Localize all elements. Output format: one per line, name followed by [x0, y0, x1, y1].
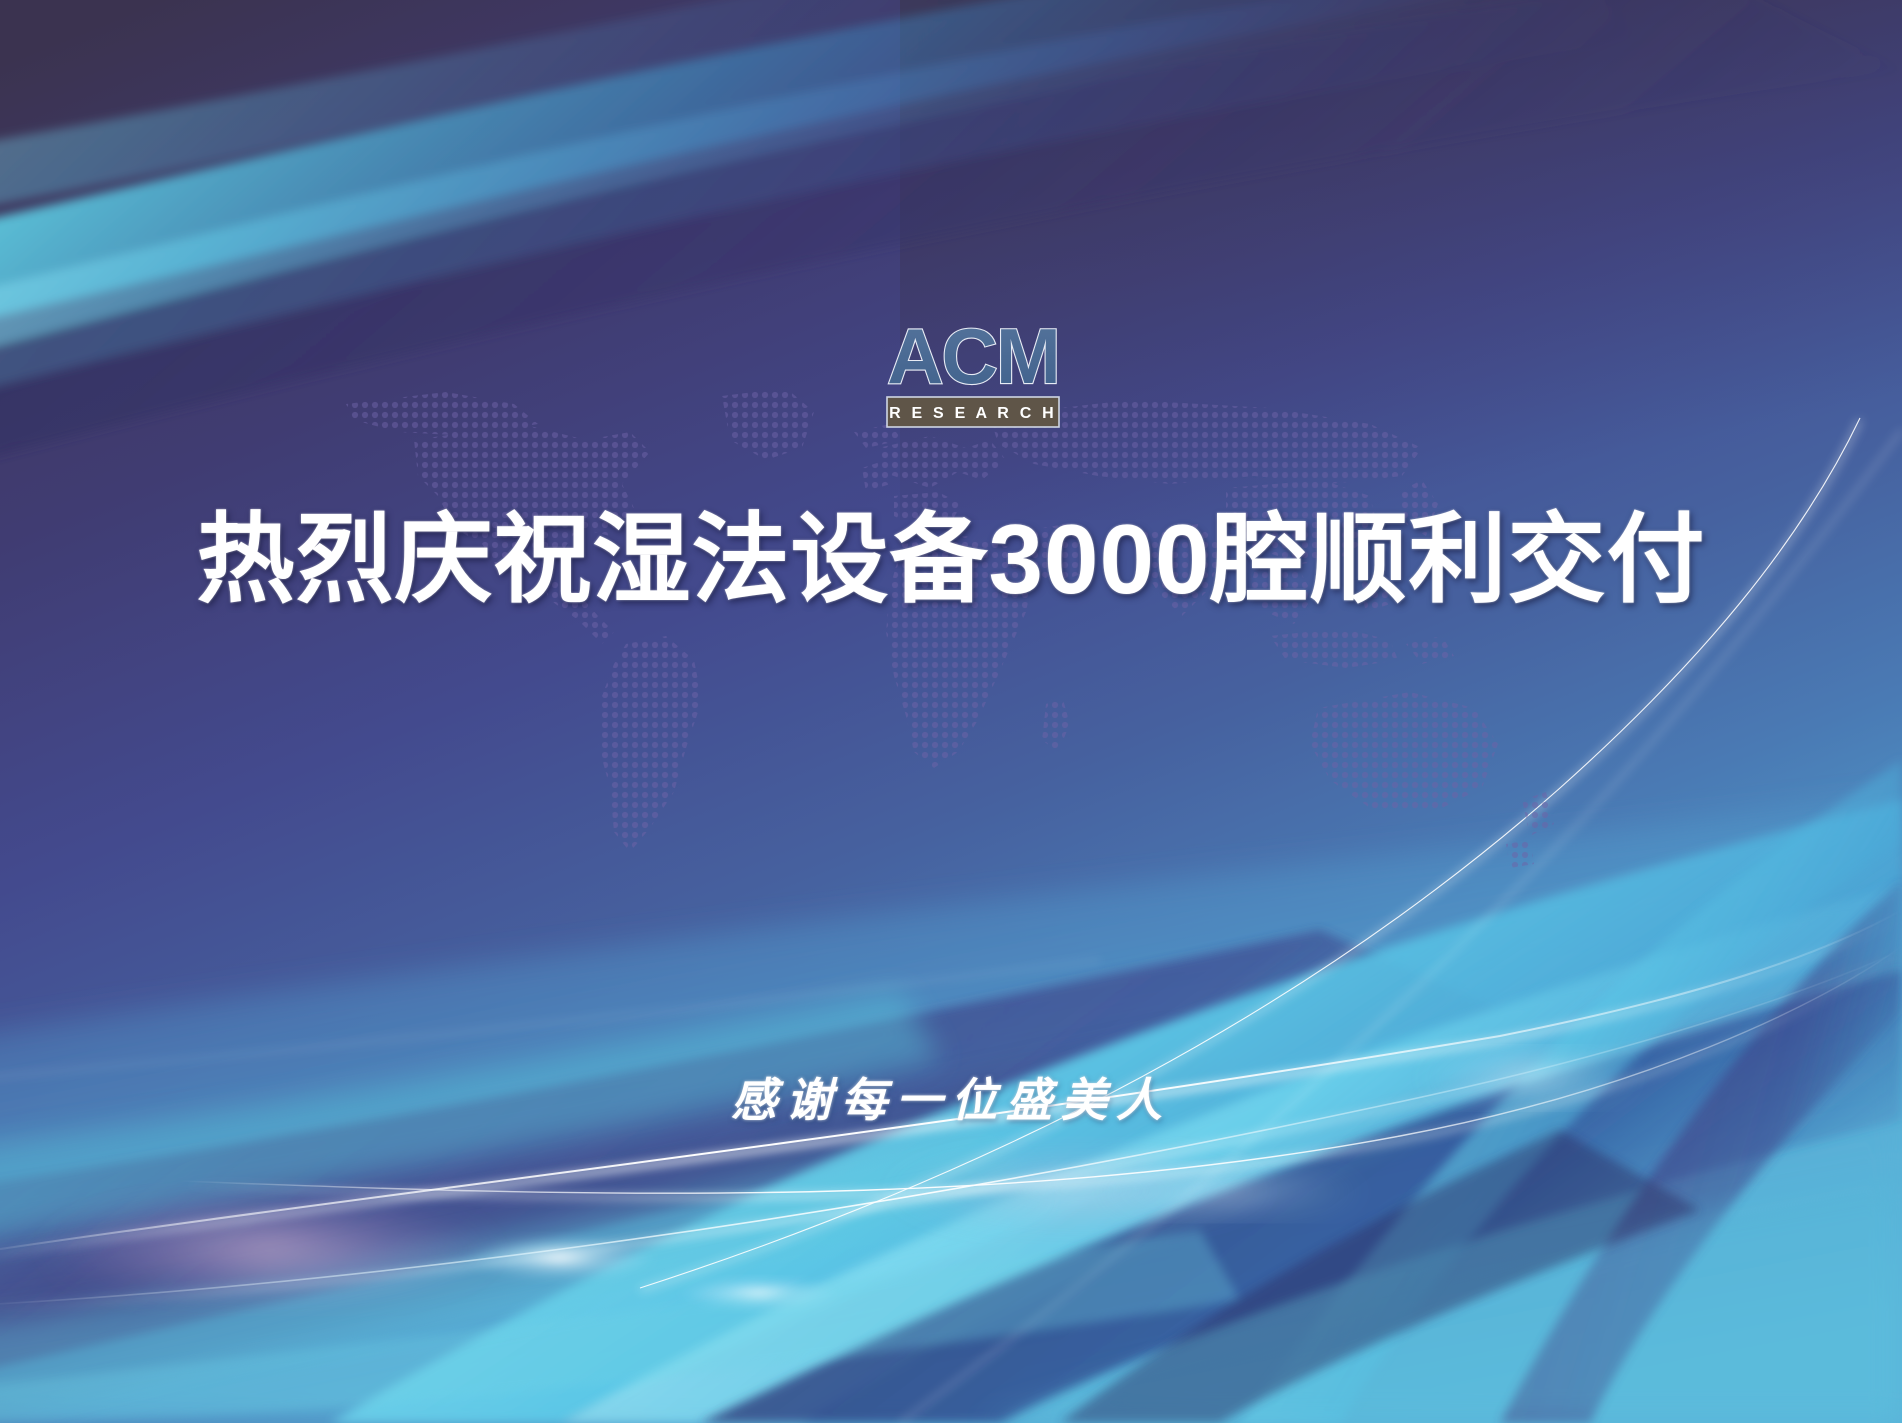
slide-background — [0, 0, 1902, 1423]
acm-research-logo-mark: ACM R E S E A R C H — [877, 305, 1069, 435]
research-tagline-text: R E S E A R C H — [889, 405, 1057, 422]
acm-research-logo: ACM R E S E A R C H — [877, 305, 1069, 435]
slide-subtitle: 感谢每一位盛美人 — [0, 1064, 1902, 1130]
slide-title: 热烈庆祝湿法设备3000腔顺利交付 — [0, 505, 1902, 615]
acm-wordmark-text: ACM — [887, 312, 1059, 400]
presentation-slide: ACM R E S E A R C H 热烈庆祝湿法设备3000腔顺利交付 感谢… — [0, 0, 1902, 1423]
